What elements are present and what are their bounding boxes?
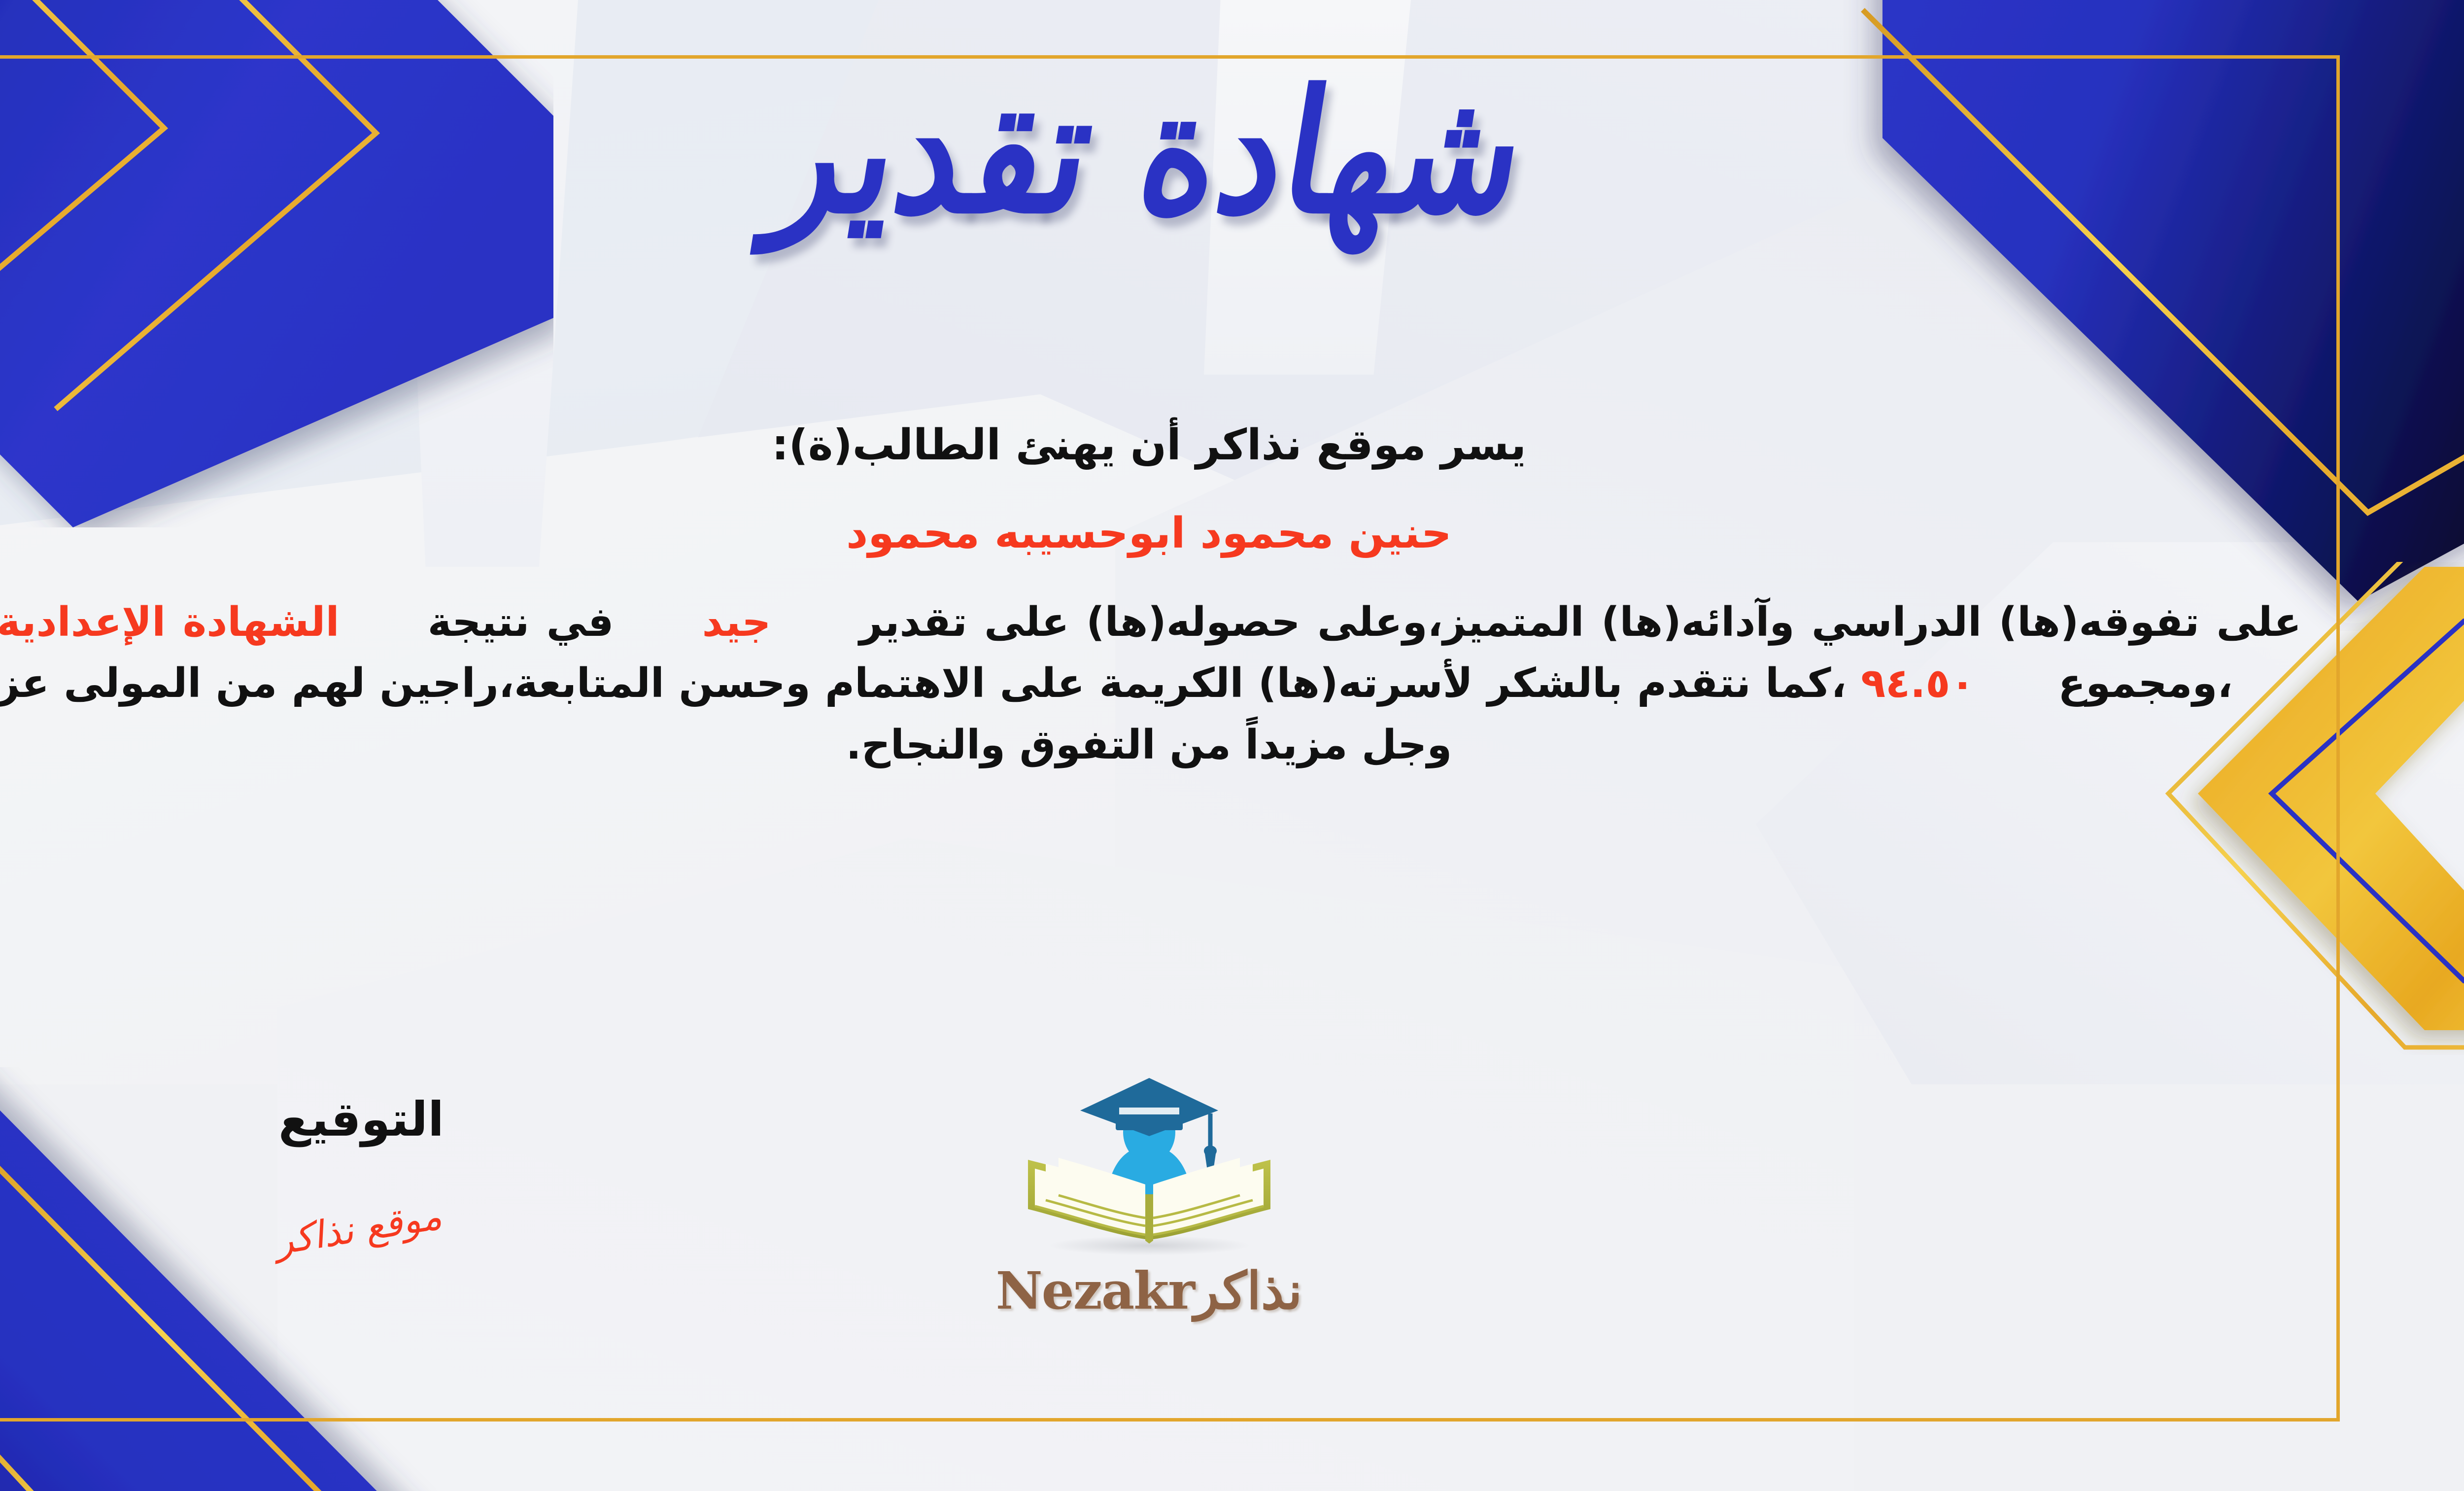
signature-block: التوقيع موقع نذاكر [208, 1092, 514, 1250]
citation-segment-3: ،ومجموع [2058, 660, 2232, 707]
citation-paragraph: على تفوقه(ها) الدراسي وآدائه(ها) المتميز… [0, 592, 2301, 776]
logo-name-ar: نذاكر [1194, 1260, 1302, 1321]
citation-segment-2: في نتيجة [428, 599, 614, 646]
student-name: حنين محمود ابوحسيبه محمود [0, 502, 2301, 565]
intro-line: يسر موقع نذاكر أن يهنئ الطالب(ة): [0, 414, 2301, 477]
signature-label: التوقيع [208, 1092, 514, 1147]
graduate-open-book-icon [1011, 1072, 1287, 1269]
grade-value: جيد [702, 599, 771, 646]
citation-segment-1: على تفوقه(ها) الدراسي وآدائه(ها) المتميز… [859, 599, 2301, 646]
signature-mark: موقع نذاكر [277, 1192, 445, 1263]
page-title: شهادة تقدير [758, 46, 1540, 257]
total-score: ٩٤.٥٠ [1861, 660, 1975, 707]
certificate-canvas: شهادة تقدير يسر موقع نذاكر أن يهنئ الطال… [0, 0, 2464, 1491]
exam-name: الشهادة الإعدادية [0, 599, 340, 646]
certificate-footer: التوقيع موقع نذاكر [0, 1087, 2464, 1392]
logo-wordmark: نذاكرNezakr [962, 1260, 1336, 1321]
logo-name-en: Nezakr [996, 1260, 1195, 1321]
citation-segment-4: ،كما نتقدم بالشكر لأسرته(ها) الكريمة على… [0, 660, 1847, 768]
certificate-body: يسر موقع نذاكر أن يهنئ الطالب(ة): حنين م… [0, 414, 2301, 776]
certificate-title-block: شهادة تقدير [0, 59, 2464, 244]
brand-logo: نذاكرNezakr [962, 1072, 1336, 1321]
